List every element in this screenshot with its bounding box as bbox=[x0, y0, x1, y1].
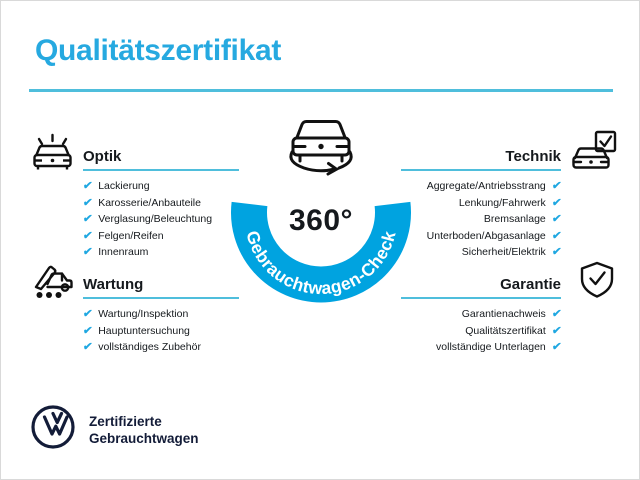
list-item: ✔Felgen/Reifen bbox=[83, 228, 239, 245]
list-item: Sicherheit/Elektrik✔ bbox=[401, 244, 561, 261]
list-item-label: Garantienachweis bbox=[462, 306, 546, 323]
car-front-shine-icon bbox=[29, 132, 77, 177]
list-item: ✔Verglasung/Beleuchtung bbox=[83, 211, 239, 228]
list-item-label: Wartung/Inspektion bbox=[98, 306, 188, 323]
section-technik: Technik Aggregate/Antriebsstrang✔ Lenkun… bbox=[401, 141, 561, 261]
list-item-label: vollständige Unterlagen bbox=[436, 339, 546, 356]
section-technik-list: Aggregate/Antriebsstrang✔ Lenkung/Fahrwe… bbox=[401, 178, 561, 261]
check-icon: ✔ bbox=[82, 195, 94, 212]
check-icon: ✔ bbox=[82, 228, 94, 245]
section-wartung-header: Wartung bbox=[83, 269, 239, 297]
check-icon: ✔ bbox=[82, 211, 94, 228]
list-item-label: Verglasung/Beleuchtung bbox=[98, 211, 212, 228]
section-technik-header: Technik bbox=[401, 141, 561, 169]
list-item-label: Sicherheit/Elektrik bbox=[462, 244, 546, 261]
car-front-rotate-icon bbox=[283, 110, 359, 185]
check-icon: ✔ bbox=[82, 306, 94, 323]
section-garantie-divider bbox=[401, 297, 561, 299]
check-icon: ✔ bbox=[551, 323, 563, 340]
list-item-label: Karosserie/Anbauteile bbox=[98, 195, 201, 212]
section-wartung: Wartung ✔Wartung/Inspektion ✔Hauptunters… bbox=[83, 269, 239, 356]
car-service-pen-icon bbox=[29, 260, 77, 305]
car-front-checkbox-icon bbox=[571, 130, 619, 175]
section-wartung-list: ✔Wartung/Inspektion ✔Hauptuntersuchung ✔… bbox=[83, 306, 239, 356]
section-optik: Optik ✔Lackierung ✔Karosserie/Anbauteile… bbox=[83, 141, 239, 261]
section-optik-header: Optik bbox=[83, 141, 239, 169]
vw-logo bbox=[31, 405, 75, 454]
list-item: Qualitätszertifikat✔ bbox=[401, 323, 561, 340]
list-item: vollständige Unterlagen✔ bbox=[401, 339, 561, 356]
check-icon: ✔ bbox=[551, 306, 563, 323]
header-divider bbox=[29, 89, 613, 92]
badge-360-gebrauchtwagen-check: Gebrauchtwagen-Check 360° bbox=[223, 120, 419, 316]
list-item: ✔Lackierung bbox=[83, 178, 239, 195]
shield-check-icon bbox=[577, 260, 617, 305]
check-icon: ✔ bbox=[82, 178, 94, 195]
footer-line-2: Gebrauchtwagen bbox=[89, 431, 199, 446]
check-icon: ✔ bbox=[551, 178, 563, 195]
list-item-label: Lackierung bbox=[98, 178, 149, 195]
footer-logo-block: Zertifizierte Gebrauchtwagen bbox=[31, 405, 199, 454]
list-item: ✔Karosserie/Anbauteile bbox=[83, 195, 239, 212]
list-item-label: Lenkung/Fahrwerk bbox=[459, 195, 546, 212]
list-item-label: Hauptuntersuchung bbox=[98, 323, 190, 340]
footer-line-1: Zertifizierte bbox=[89, 414, 162, 429]
list-item: ✔Wartung/Inspektion bbox=[83, 306, 239, 323]
section-optik-list: ✔Lackierung ✔Karosserie/Anbauteile ✔Verg… bbox=[83, 178, 239, 261]
list-item: Unterboden/Abgasanlage✔ bbox=[401, 228, 561, 245]
list-item: ✔vollständiges Zubehör bbox=[83, 339, 239, 356]
footer-text: Zertifizierte Gebrauchtwagen bbox=[89, 413, 199, 447]
check-icon: ✔ bbox=[551, 244, 563, 261]
list-item-label: Unterboden/Abgasanlage bbox=[427, 228, 546, 245]
list-item: ✔Innenraum bbox=[83, 244, 239, 261]
check-icon: ✔ bbox=[551, 195, 563, 212]
section-technik-heading: Technik bbox=[505, 148, 561, 165]
section-garantie-heading: Garantie bbox=[500, 276, 561, 293]
list-item: ✔Hauptuntersuchung bbox=[83, 323, 239, 340]
list-item: Aggregate/Antriebsstrang✔ bbox=[401, 178, 561, 195]
list-item-label: vollständiges Zubehör bbox=[98, 339, 201, 356]
section-optik-heading: Optik bbox=[83, 148, 121, 165]
check-icon: ✔ bbox=[82, 323, 94, 340]
list-item-label: Qualitätszertifikat bbox=[465, 323, 546, 340]
check-icon: ✔ bbox=[82, 339, 94, 356]
list-item-label: Aggregate/Antriebsstrang bbox=[427, 178, 546, 195]
list-item-label: Innenraum bbox=[98, 244, 148, 261]
section-garantie: Garantie Garantienachweis✔ Qualitätszert… bbox=[401, 269, 561, 356]
section-garantie-header: Garantie bbox=[401, 269, 561, 297]
check-icon: ✔ bbox=[82, 244, 94, 261]
check-icon: ✔ bbox=[551, 228, 563, 245]
check-icon: ✔ bbox=[551, 339, 563, 356]
section-technik-divider bbox=[401, 169, 561, 171]
section-optik-divider bbox=[83, 169, 239, 171]
page-title: Qualitätszertifikat bbox=[35, 34, 281, 68]
section-garantie-list: Garantienachweis✔ Qualitätszertifikat✔ v… bbox=[401, 306, 561, 356]
section-wartung-divider bbox=[83, 297, 239, 299]
list-item: Garantienachweis✔ bbox=[401, 306, 561, 323]
list-item: Lenkung/Fahrwerk✔ bbox=[401, 195, 561, 212]
list-item: Bremsanlage✔ bbox=[401, 211, 561, 228]
check-icon: ✔ bbox=[551, 211, 563, 228]
list-item-label: Bremsanlage bbox=[484, 211, 546, 228]
list-item-label: Felgen/Reifen bbox=[98, 228, 163, 245]
section-wartung-heading: Wartung bbox=[83, 276, 143, 293]
certificate-sheet: Qualitätszertifikat Optik bbox=[0, 0, 640, 480]
